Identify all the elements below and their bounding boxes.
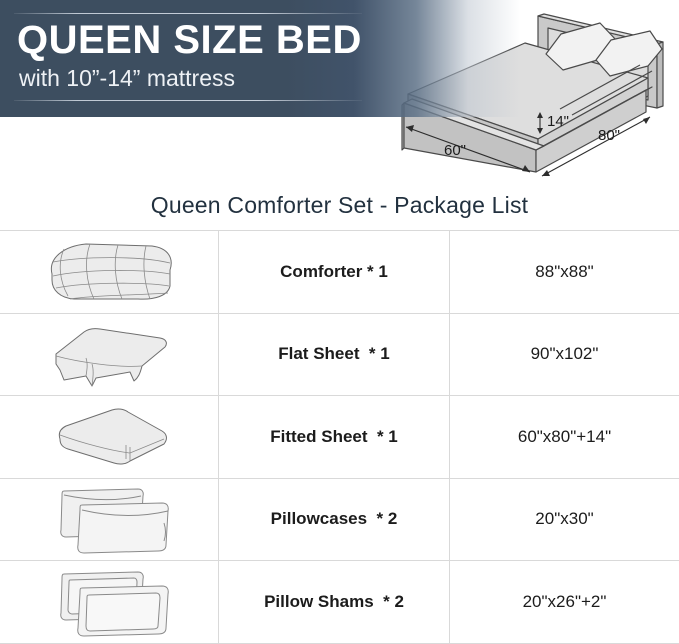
item-name: Pillowcases * 2	[219, 479, 450, 561]
item-size: 60"x80"+14"	[450, 396, 679, 478]
package-list-table: Comforter * 1 88"x88" Flat Sheet * 1	[0, 230, 679, 644]
item-size: 90"x102"	[450, 314, 679, 396]
table-row: Pillow Shams * 2 20"x26"+2"	[0, 561, 679, 644]
item-size: 20"x26"+2"	[450, 561, 679, 643]
infographic-page: 60" 80" 14" QUEE	[0, 0, 679, 644]
hero-section: 60" 80" 14" QUEE	[0, 0, 679, 180]
table-row: Comforter * 1 88"x88"	[0, 231, 679, 314]
bed-length-label: 80"	[598, 127, 620, 144]
bed-height-label: 14"	[547, 113, 569, 130]
pillow-shams-icon	[0, 561, 219, 643]
table-row: Flat Sheet * 1 90"x102"	[0, 314, 679, 397]
comforter-icon	[0, 231, 219, 313]
item-name: Fitted Sheet * 1	[219, 396, 450, 478]
item-size: 88"x88"	[450, 231, 679, 313]
banner-subtitle: with 10”-14” mattress	[19, 64, 235, 92]
item-size: 20"x30"	[450, 479, 679, 561]
pillowcases-icon	[0, 479, 219, 561]
item-name: Flat Sheet * 1	[219, 314, 450, 396]
banner-rule-top	[14, 13, 362, 14]
item-name: Pillow Shams * 2	[219, 561, 450, 643]
table-row: Pillowcases * 2 20"x30"	[0, 479, 679, 562]
item-name: Comforter * 1	[219, 231, 450, 313]
table-row: Fitted Sheet * 1 60"x80"+14"	[0, 396, 679, 479]
package-list-title: Queen Comforter Set - Package List	[0, 192, 679, 219]
flat-sheet-icon	[0, 314, 219, 396]
fitted-sheet-icon	[0, 396, 219, 478]
bed-width-label: 60"	[444, 142, 466, 159]
banner-title: QUEEN SIZE BED	[17, 18, 362, 62]
banner-rule-bottom	[14, 100, 362, 101]
